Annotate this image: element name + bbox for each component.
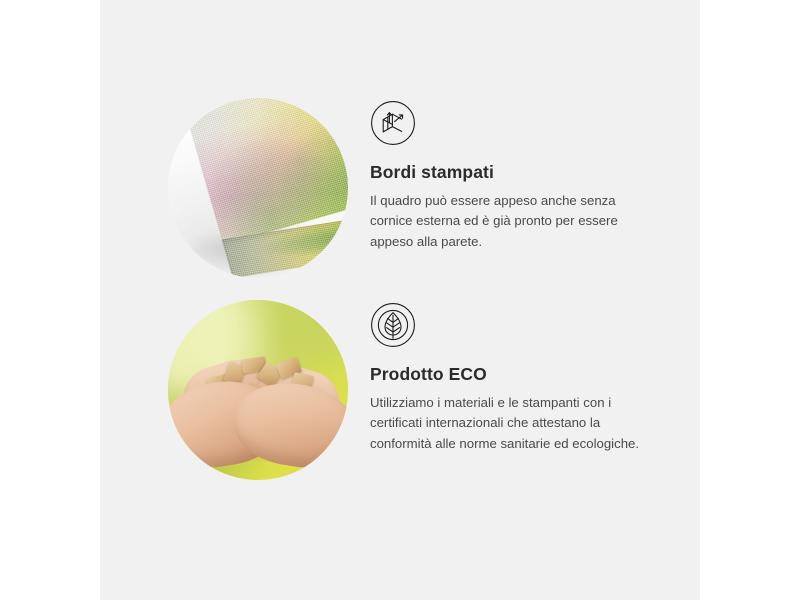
canvas-corner-photo	[168, 98, 348, 278]
feature-description: Utilizziamo i materiali e le stampanti c…	[370, 393, 648, 454]
feature-printed-edges: Bordi stampati Il quadro può essere appe…	[100, 98, 648, 278]
content-panel: Bordi stampati Il quadro può essere appe…	[100, 0, 700, 600]
printed-edges-icon	[370, 100, 416, 146]
eco-hands-photo	[168, 300, 348, 480]
canvas-corner-circle	[168, 98, 348, 278]
feature-text-block: Bordi stampati Il quadro può essere appe…	[370, 98, 648, 252]
eco-hands-circle	[168, 300, 348, 480]
feature-eco-product: Prodotto ECO Utilizziamo i materiali e l…	[100, 300, 648, 480]
feature-text-block: Prodotto ECO Utilizziamo i materiali e l…	[370, 300, 648, 454]
feature-description: Il quadro può essere appeso anche senza …	[370, 191, 648, 252]
feature-title: Prodotto ECO	[370, 364, 648, 386]
feature-title: Bordi stampati	[370, 162, 648, 184]
product-info-page: Bordi stampati Il quadro può essere appe…	[0, 0, 800, 600]
leaf-icon	[370, 302, 416, 348]
